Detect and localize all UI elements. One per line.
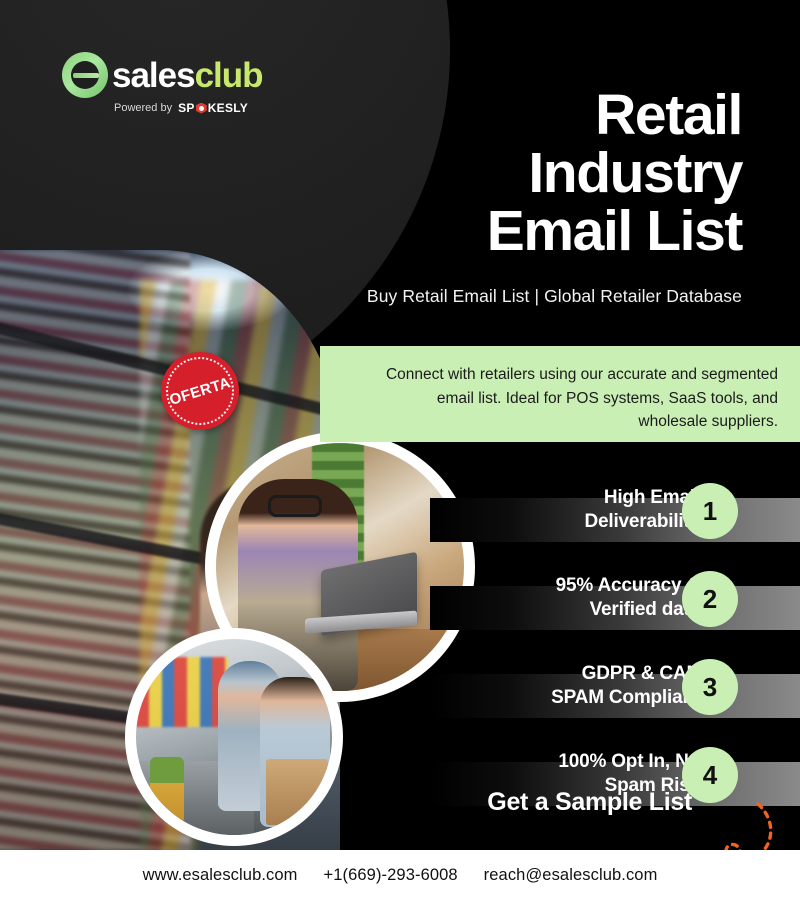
feature-label-line-1: 95% Accuracy & <box>450 574 700 598</box>
logo-row: salesclub <box>62 52 302 98</box>
feature-label-line-2: SPAM Compliant <box>450 686 700 710</box>
feature-label: GDPR & CAN SPAM Compliant <box>450 662 700 709</box>
feature-number: 2 <box>682 571 738 627</box>
feature-number: 3 <box>682 659 738 715</box>
footer-contact-bar: www.esalesclub.com +1(669)-293-6008 reac… <box>0 850 800 900</box>
spokesly-wordmark: SPKESLY <box>178 101 248 115</box>
feature-row: GDPR & CAN SPAM Compliant 3 <box>430 658 800 734</box>
footer-website[interactable]: www.esalesclub.com <box>143 866 298 885</box>
feature-label: High Email Deliverability <box>450 486 700 533</box>
e-circle-icon <box>62 52 108 98</box>
logo-wordmark: salesclub <box>112 58 263 93</box>
oferta-label: OFERTA <box>167 374 232 409</box>
feature-label-line-2: Deliverability <box>450 510 700 534</box>
feature-number: 1 <box>682 483 738 539</box>
feature-label-line-1: GDPR & CAN <box>450 662 700 686</box>
powered-by-label: Powered by <box>114 102 172 114</box>
description-text: Connect with retailers using our accurat… <box>378 363 778 434</box>
feature-row: 95% Accuracy & Verified data 2 <box>430 570 800 646</box>
checkout-counter-photo <box>125 628 343 846</box>
cta-label[interactable]: Get a Sample List <box>487 788 692 817</box>
subtitle: Buy Retail Email List | Global Retailer … <box>262 286 742 307</box>
feature-label-line-1: 100% Opt In, No <box>450 750 700 774</box>
logo-word-sales: sales <box>112 56 195 95</box>
feature-label-line-2: Verified data <box>450 598 700 622</box>
feature-label: 95% Accuracy & Verified data <box>450 574 700 621</box>
headline-line-1: Retail <box>272 86 742 144</box>
headline-line-2: Industry <box>272 144 742 202</box>
page-title: Retail Industry Email List <box>272 86 742 260</box>
retail-email-list-poster: OFERTA salesclub Powered by SPKESLY <box>0 0 800 900</box>
logo-word-club: club <box>195 56 263 95</box>
shopping-bag-icon <box>266 759 328 825</box>
footer-phone[interactable]: +1(669)-293-6008 <box>324 866 458 885</box>
checkout-photo-inner <box>136 639 332 835</box>
pineapple-icon <box>150 757 184 829</box>
headline-line-3: Email List <box>272 202 742 260</box>
feature-row: High Email Deliverability 1 <box>430 482 800 558</box>
footer-email[interactable]: reach@esalesclub.com <box>484 866 658 885</box>
feature-label-line-1: High Email <box>450 486 700 510</box>
feature-list: High Email Deliverability 1 95% Accuracy… <box>430 482 800 834</box>
esalesclub-logo[interactable]: salesclub Powered by SPKESLY <box>62 52 302 116</box>
spokesly-gem-icon <box>196 103 207 114</box>
description-panel: Connect with retailers using our accurat… <box>320 346 800 442</box>
